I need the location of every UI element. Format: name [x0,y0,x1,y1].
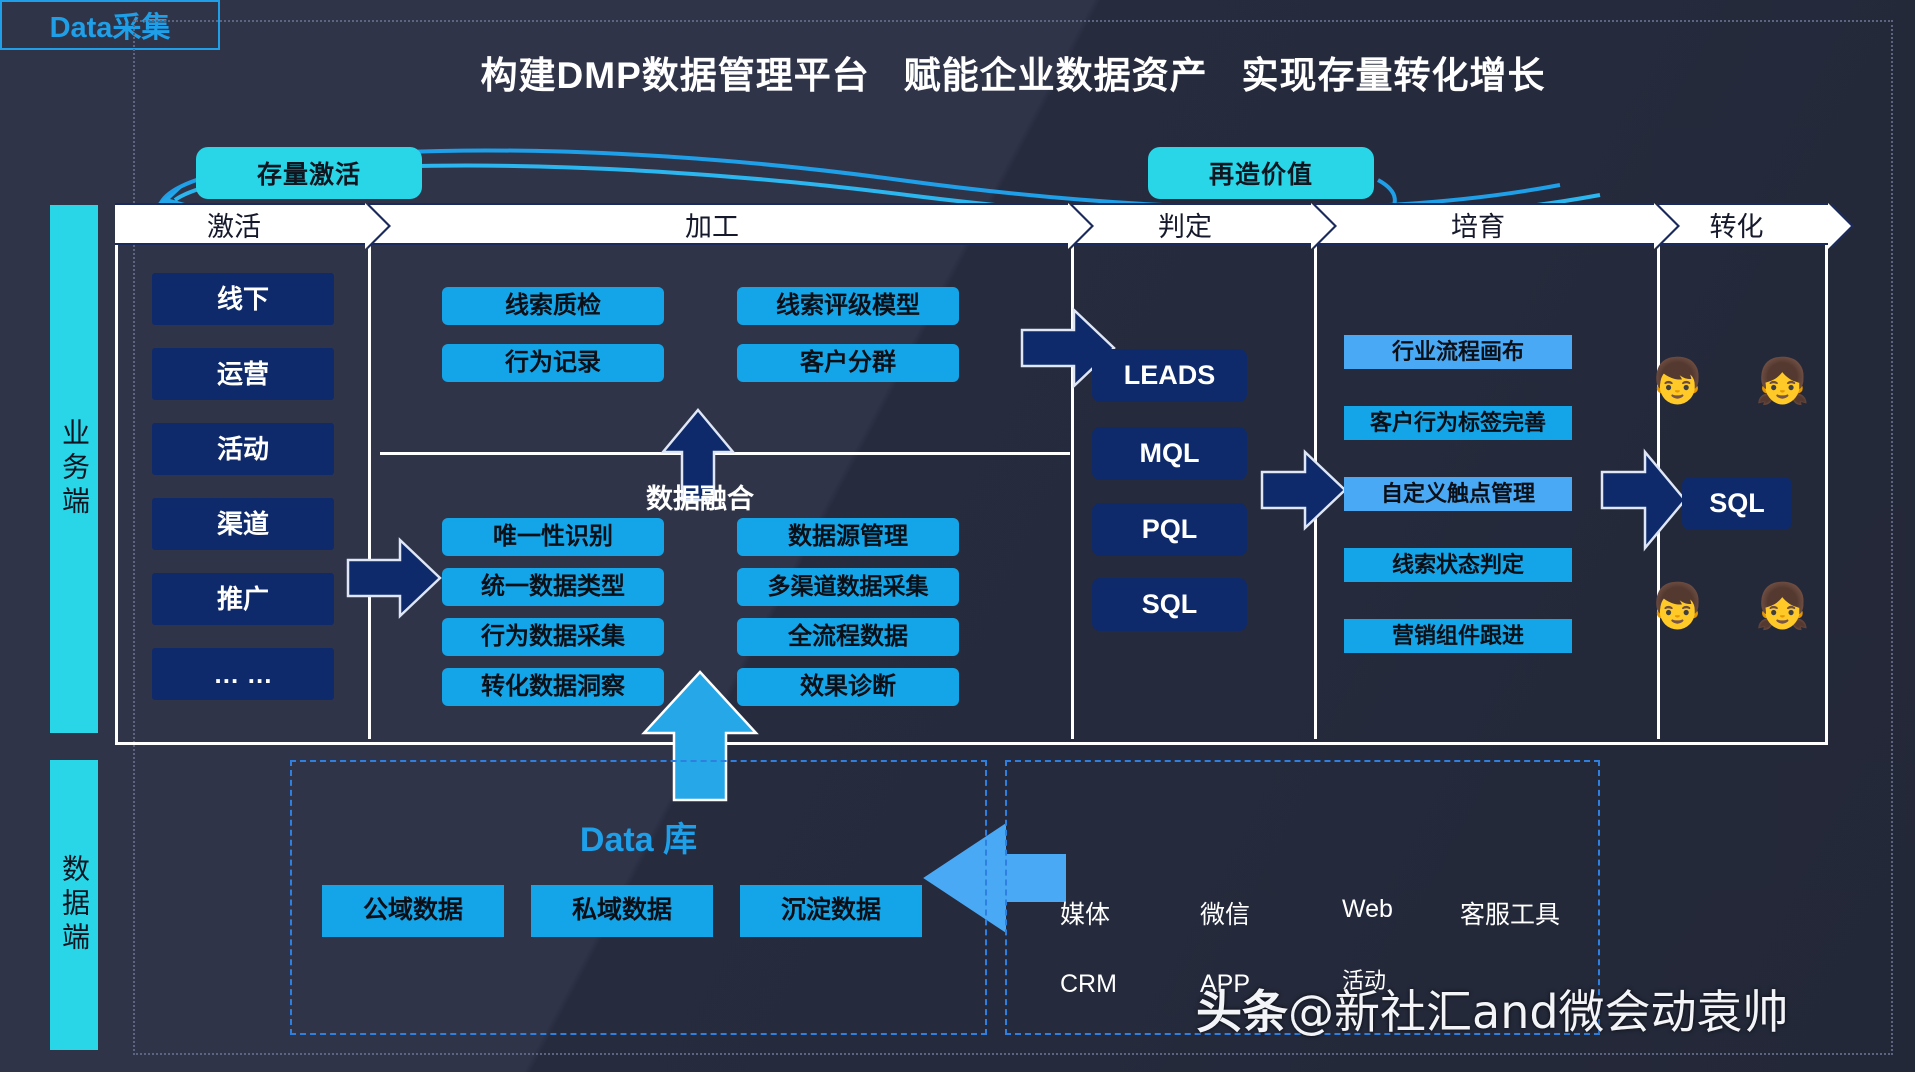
data-library-item[interactable]: 公域数据 [322,885,504,937]
fusion-item[interactable]: 多渠道数据采集 [737,568,959,606]
stage-label: 加工 [685,205,739,244]
activate-item[interactable]: 渠道 [152,498,334,550]
item-label: 线下 [217,285,269,314]
item-label: 全流程数据 [788,624,908,650]
stage-label: 激活 [207,205,261,244]
nurture-item[interactable]: 自定义触点管理 [1344,477,1572,511]
item-label: MQL [1140,439,1200,469]
item-label: 行为记录 [505,350,601,376]
qualify-item[interactable]: SQL [1092,578,1247,631]
fusion-item[interactable]: 唯一性识别 [442,518,664,556]
stage-chevron-qualify[interactable]: 判定 [1071,203,1311,245]
item-label: 唯一性识别 [493,524,613,550]
fusion-heading: 数据融合 [540,477,860,516]
watermark-handle: @新社汇and微会动袁帅 [1288,985,1789,1039]
nurture-item[interactable]: 客户行为标签完善 [1344,406,1572,440]
stage-chevron-activate[interactable]: 激活 [115,203,365,245]
fusion-item[interactable]: 全流程数据 [737,618,959,656]
fusion-item[interactable]: 行为数据采集 [442,618,664,656]
item-label: 线索状态判定 [1392,553,1524,577]
activate-item[interactable]: 推广 [152,573,334,625]
convert-sql-box[interactable]: SQL [1682,477,1792,530]
fusion-item[interactable]: 统一数据类型 [442,568,664,606]
activate-item[interactable]: 运营 [152,348,334,400]
item-label: 效果诊断 [800,674,896,700]
column-divider [368,245,371,739]
data-source-label[interactable]: 微信 [1200,895,1250,931]
data-source-label[interactable]: CRM [1060,970,1117,999]
item-label: 线索质检 [505,293,601,319]
item-label: 转化数据洞察 [481,674,625,700]
item-label: 行业流程画布 [1392,340,1524,364]
item-label: 自定义触点管理 [1381,482,1535,506]
nurture-item[interactable]: 营销组件跟进 [1344,619,1572,653]
activate-item[interactable]: … … [152,648,334,700]
data-library-item[interactable]: 私域数据 [531,885,713,937]
activate-item[interactable]: 线下 [152,273,334,325]
stage-label: 转化 [1710,205,1764,244]
data-library-item[interactable]: 沉淀数据 [740,885,922,937]
side-label-business: 业务端 [50,205,98,733]
item-label: SQL [1709,489,1765,519]
item-label: 统一数据类型 [481,574,625,600]
item-label: 渠道 [217,510,269,539]
data-source-label[interactable]: 客服工具 [1460,895,1560,931]
item-label: LEADS [1124,361,1216,391]
stage-label: 培育 [1451,205,1505,244]
fusion-item[interactable]: 效果诊断 [737,668,959,706]
stage-chevron-nurture[interactable]: 培育 [1314,203,1654,245]
item-label: 数据源管理 [788,524,908,550]
avatar-girl-icon: 👧 [1755,360,1810,404]
diagram-canvas: 构建DMP数据管理平台 赋能企业数据资产 实现存量转化增长 存量激活 再造价值 … [0,0,1915,1072]
avatar-boy-icon: 👦 [1650,585,1705,629]
fusion-item[interactable]: 转化数据洞察 [442,668,664,706]
qualify-item[interactable]: LEADS [1092,349,1247,402]
stage-label: 判定 [1158,205,1212,244]
item-label: 运营 [217,360,269,389]
stage-chevron-convert[interactable]: 转化 [1657,203,1828,245]
watermark-prefix: 头条 [1196,985,1288,1039]
side-label-data: 数据端 [50,760,98,1050]
process-stage-band: 激活 加工 判定 培育 转化 [115,203,1828,245]
process-top-item[interactable]: 线索质检 [442,287,664,325]
item-label: PQL [1142,515,1198,545]
item-label: 多渠道数据采集 [768,574,929,599]
data-source-label[interactable]: 媒体 [1060,895,1110,931]
fusion-item[interactable]: 数据源管理 [737,518,959,556]
item-label: 营销组件跟进 [1392,624,1524,648]
column-divider [1314,245,1317,739]
nurture-item[interactable]: 行业流程画布 [1344,335,1572,369]
item-label: 客户分群 [800,350,896,376]
process-top-item[interactable]: 行为记录 [442,344,664,382]
callout-stock-activation: 存量激活 [196,147,422,199]
process-top-item[interactable]: 客户分群 [737,344,959,382]
item-label: … … [213,660,272,689]
avatar-boy-icon: 👦 [1650,360,1705,404]
callout-recreate-value: 再造价值 [1148,147,1374,199]
item-label: 沉淀数据 [781,897,881,925]
item-label: SQL [1142,590,1198,620]
item-label: 推广 [217,585,269,614]
page-title: 构建DMP数据管理平台 赋能企业数据资产 实现存量转化增长 [133,45,1893,99]
process-top-item[interactable]: 线索评级模型 [737,287,959,325]
item-label: 客户行为标签完善 [1370,411,1546,435]
column-divider [1657,245,1660,739]
avatar-girl-icon: 👧 [1755,585,1810,629]
qualify-item[interactable]: PQL [1092,503,1247,556]
nurture-item[interactable]: 线索状态判定 [1344,548,1572,582]
item-label: 行为数据采集 [481,624,625,650]
item-label: 线索评级模型 [776,293,920,319]
stage-chevron-process[interactable]: 加工 [368,203,1068,245]
data-library-title: Data 库 [290,812,987,861]
qualify-item[interactable]: MQL [1092,427,1247,480]
item-label: 私域数据 [572,897,672,925]
column-divider [1071,245,1074,739]
data-source-label[interactable]: Web [1342,895,1393,924]
fusion-top-divider [380,452,1070,455]
watermark: 头条@新社汇and微会动袁帅 [1196,976,1789,1042]
item-label: 活动 [217,435,269,464]
item-label: 公域数据 [363,897,463,925]
activate-item[interactable]: 活动 [152,423,334,475]
